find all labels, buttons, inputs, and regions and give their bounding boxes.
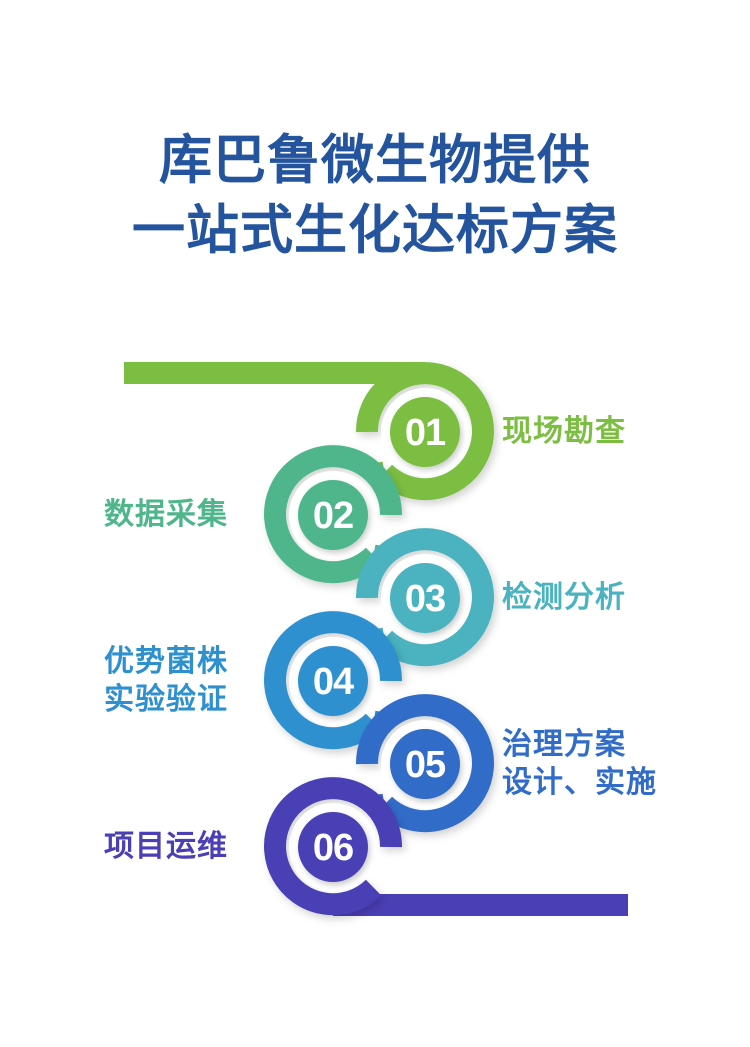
step-circle-disc-05	[390, 729, 460, 799]
flow-bottom-bar	[333, 894, 628, 916]
step-label-03: 检测分析	[502, 579, 626, 617]
flow-segment-06	[275, 788, 391, 904]
step-circle-disc-01	[390, 397, 460, 467]
step-circle-disc-04	[298, 646, 368, 716]
ribbon-connector-02	[374, 556, 385, 558]
step-number-06: 06	[313, 827, 353, 869]
ribbon-arc-03	[367, 539, 483, 655]
step-number-02: 02	[313, 495, 353, 537]
ribbon-arc-04	[275, 622, 391, 738]
flow-segment-03	[367, 539, 483, 655]
step-label-line1-03: 检测分析	[502, 579, 626, 617]
step-circle-halo-06	[289, 803, 377, 891]
step-label-line1-01: 现场勘查	[502, 413, 626, 451]
flow-segment-04	[275, 622, 391, 738]
step-circle-halo-05	[381, 720, 469, 808]
flow-segment-05	[367, 705, 483, 821]
step-label-line1-05: 治理方案	[502, 726, 657, 764]
ribbon-arc-05	[367, 705, 483, 821]
number-circle-layer: 010203040506	[289, 388, 469, 891]
step-circle-03[interactable]: 03	[381, 554, 469, 642]
flow-top-bar	[124, 362, 425, 384]
ribbon-arc-02	[275, 456, 391, 572]
step-label-04: 优势菌株实验验证	[104, 643, 228, 719]
step-circle-06[interactable]: 06	[289, 803, 377, 891]
ribbon-connector-01	[374, 473, 385, 475]
title-line-1: 库巴鲁微生物提供	[0, 126, 750, 196]
step-label-line1-06: 项目运维	[104, 828, 228, 866]
step-circle-04[interactable]: 04	[289, 637, 377, 725]
step-label-line1-04: 优势菌株	[104, 643, 228, 681]
ribbon-arc-06	[275, 788, 391, 904]
step-circle-05[interactable]: 05	[381, 720, 469, 808]
step-label-01: 现场勘查	[502, 413, 626, 451]
ribbon-connector-03	[374, 639, 385, 641]
step-number-04: 04	[313, 661, 354, 703]
step-number-01: 01	[405, 412, 446, 454]
step-label-line1-02: 数据采集	[104, 496, 228, 534]
step-circle-halo-04	[289, 637, 377, 725]
flow-segment-02	[275, 456, 391, 572]
infographic-poster: 库巴鲁微生物提供 一站式生化达标方案 010203040506 现场勘查数据采集…	[0, 0, 750, 1047]
step-circle-disc-06	[298, 812, 368, 882]
ribbon-connector-04	[374, 722, 385, 724]
step-circle-01[interactable]: 01	[381, 388, 469, 476]
step-label-line2-05: 设计、实施	[502, 764, 657, 802]
step-circle-halo-01	[381, 388, 469, 476]
step-number-03: 03	[405, 578, 445, 620]
step-circle-02[interactable]: 02	[289, 471, 377, 559]
page-title: 库巴鲁微生物提供 一站式生化达标方案	[0, 126, 750, 266]
step-label-06: 项目运维	[104, 828, 228, 866]
step-label-05: 治理方案设计、实施	[502, 726, 657, 802]
ribbon-arc-01	[367, 373, 483, 489]
title-line-2: 一站式生化达标方案	[0, 196, 750, 266]
step-circle-disc-02	[298, 480, 368, 550]
step-number-05: 05	[405, 744, 446, 786]
flow-segment-01	[367, 373, 483, 489]
ribbon-connector-05	[374, 805, 385, 807]
step-label-line2-04: 实验验证	[104, 681, 228, 719]
step-label-02: 数据采集	[104, 496, 228, 534]
step-circle-disc-03	[390, 563, 460, 633]
step-circle-halo-03	[381, 554, 469, 642]
step-circle-halo-02	[289, 471, 377, 559]
